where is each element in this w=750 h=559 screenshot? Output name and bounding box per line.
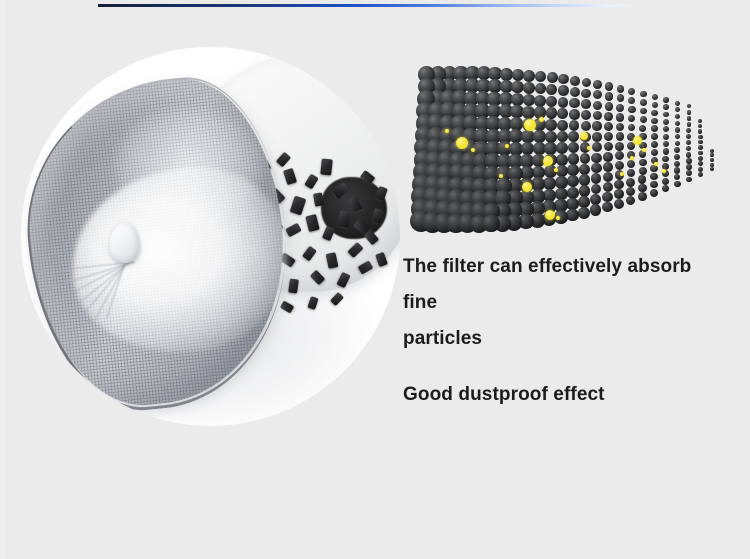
carbon-sphere [581,89,591,99]
carbon-sphere [674,147,680,153]
fine-particle [545,210,555,220]
carbon-sphere [578,207,590,219]
carbon-sphere [686,152,691,157]
gradient-divider-icon [98,4,638,7]
carbon-sphere [675,114,680,119]
carbon-sphere [616,123,624,131]
carbon-sphere [651,125,658,132]
carbon-sphere [652,102,658,108]
fine-particle [554,168,558,172]
carbon-sheet-illustration [404,52,726,232]
carbon-sphere [698,119,702,123]
carbon-sphere [568,153,580,165]
carbon-sphere [698,129,702,133]
carbon-sphere [582,78,591,87]
carbon-sphere [617,85,625,93]
carbon-sphere [591,163,602,174]
carbon-sphere [592,142,602,152]
carbon-sphere [698,151,703,156]
carbon-sphere [674,167,680,173]
carbon-sphere [544,142,557,155]
carbon-sphere [686,164,692,170]
carbon-sphere [628,106,636,114]
carbon-sphere [698,135,702,139]
carbon-sphere [675,107,680,112]
left-edge-stripe [2,0,5,559]
carbon-sphere [545,131,557,143]
carbon-sphere [604,132,613,141]
carbon-sphere [570,87,580,97]
fine-particle [642,148,646,152]
carbon-sphere [640,108,647,115]
carbon-sphere [638,192,647,201]
carbon-sphere [628,115,636,123]
carbon-sphere [663,141,669,147]
carbon-sphere [628,97,635,104]
carbon-sphere [662,178,669,185]
fine-particle [524,119,536,131]
caption-block: The filter can effectively absorb fine p… [403,249,725,413]
carbon-sphere [675,141,681,147]
carbon-sphere [556,142,568,154]
carbon-sphere [640,99,647,106]
carbon-sphere [535,83,547,95]
carbon-sphere [605,92,613,100]
carbon-sphere [567,164,579,176]
carbon-sphere [650,165,657,172]
carbon-sphere [534,95,546,107]
carbon-sphere [558,97,569,108]
carbon-sphere [627,169,636,178]
carbon-sphere [698,167,703,172]
carbon-sphere [557,131,569,143]
carbon-sphere [603,172,613,182]
carbon-sphere [604,122,613,131]
carbon-sphere [603,182,613,192]
carbon-sphere [628,124,636,132]
carbon-sphere [592,132,602,142]
carbon-sphere [628,88,635,95]
carbon-sphere [687,110,692,115]
carbon-sphere [570,76,580,86]
carbon-sphere [615,161,624,170]
carbon-sphere [592,121,602,131]
carbon-sphere [602,192,613,203]
carbon-sphere [626,196,635,205]
carbon-sphere [556,154,568,166]
carbon-sphere [652,94,658,100]
carbon-sphere [593,90,602,99]
carbon-sphere [569,120,580,131]
carbon-sphere [482,215,500,233]
carbon-sphere [581,121,591,131]
carbon-sphere [687,104,691,108]
fine-particle [580,132,588,140]
carbon-sphere [698,140,703,145]
carbon-sphere [581,110,591,120]
fine-particle [654,162,658,166]
carbon-sphere [617,94,625,102]
carbon-sphere [557,120,568,131]
caption-line-2: Good dustproof effect [403,377,725,413]
carbon-sphere [591,153,601,163]
carbon-pellet [320,158,333,175]
carbon-sphere [698,161,703,166]
carbon-sphere [710,167,714,171]
carbon-sphere [591,184,602,195]
carbon-sphere [650,181,658,189]
product-photo [21,47,400,426]
carbon-sphere [674,174,680,180]
carbon-sphere [662,185,669,192]
carbon-sphere [686,128,691,133]
carbon-sphere [591,173,602,184]
carbon-sphere [663,134,669,140]
fine-particle [445,129,449,133]
carbon-sphere [674,154,680,160]
carbon-sphere [675,127,681,133]
carbon-sphere [626,187,635,196]
carbon-sphere [602,202,613,213]
carbon-sphere [593,101,602,110]
fine-particle [630,156,634,160]
carbon-sphere [547,72,558,83]
carbon-sphere [603,162,613,172]
carbon-sphere [651,133,658,140]
caption-line-1-text: The filter can effectively absorb fine [403,256,691,313]
fine-particle [633,136,642,145]
carbon-sphere [687,116,692,121]
carbon-sphere [650,173,658,181]
carbon-sphere [663,119,669,125]
mask-valve [109,223,139,263]
carbon-sphere [580,153,591,164]
carbon-sphere [651,110,657,116]
carbon-sphere [662,156,669,163]
fine-particle [556,216,560,220]
carbon-sphere [614,199,624,209]
fine-particle [505,144,509,148]
fine-particle [539,117,544,122]
carbon-sphere [535,71,546,82]
carbon-sphere [638,175,646,183]
carbon-sphere [604,112,613,121]
carbon-sphere [675,134,681,140]
carbon-sphere [512,69,525,82]
carbon-sphere [578,196,590,208]
carbon-sphere [651,141,658,148]
carbon-sphere [640,91,647,98]
fine-particle [620,172,624,176]
carbon-sphere [698,124,702,128]
carbon-sphere [545,119,557,131]
fine-particle [662,169,666,173]
carbon-sphere [590,204,601,215]
carbon-sphere [650,189,658,197]
carbon-sphere [616,132,625,141]
carbon-sphere [663,126,669,132]
carbon-sphere [605,82,613,90]
carbon-sphere [663,97,669,103]
carbon-sphere [568,142,579,153]
carbon-sphere [522,106,535,119]
carbon-sphere [614,189,624,199]
carbon-sphere [640,116,647,123]
caption-line-1: The filter can effectively absorb fine p… [403,249,725,357]
carbon-sphere [604,142,613,151]
carbon-sphere [593,80,602,89]
carbon-sphere [579,185,591,197]
carbon-sphere [614,180,624,190]
carbon-sphere [687,122,692,127]
carbon-sphere [558,74,568,84]
carbon-sphere [523,70,535,82]
carbon-sphere [546,84,557,95]
carbon-sphere [605,102,614,111]
carbon-sphere [566,209,579,222]
carbon-sphere [674,181,681,188]
carbon-sphere [557,108,568,119]
carbon-sphere [555,176,568,189]
carbon-sphere [616,113,624,121]
carbon-sphere [663,112,669,118]
carbon-sphere [675,101,680,106]
carbon-pellet [288,278,299,293]
carbon-sphere [686,170,692,176]
carbon-sphere [698,145,703,150]
carbon-sphere [567,187,579,199]
carbon-sphere [698,172,703,177]
carbon-sphere [603,152,613,162]
fine-particle [543,156,553,166]
carbon-sphere [698,156,703,161]
carbon-sphere [615,151,624,160]
carbon-sphere [663,104,669,110]
carbon-sphere [558,85,569,96]
fine-particle [587,146,591,150]
carbon-sphere [651,118,658,125]
carbon-sphere [710,149,714,153]
carbon-sphere [546,96,557,107]
carbon-sphere [567,175,579,187]
carbon-sphere [569,109,580,120]
carbon-sphere [568,131,579,142]
carbon-sphere [581,99,591,109]
carbon-sphere [523,82,535,94]
fine-particle [499,174,503,178]
carbon-sphere [615,142,624,151]
product-photo-circle [21,47,400,426]
carbon-sphere [675,121,680,126]
carbon-sphere [639,125,646,132]
carbon-sphere [638,184,646,192]
carbon-sphere [626,178,635,187]
carbon-sphere [593,111,602,120]
carbon-sphere [651,149,658,156]
fine-particle [456,137,468,149]
carbon-sphere [627,160,636,169]
promo-banner: The filter can effectively absorb fine p… [0,0,750,559]
carbon-sphere [579,174,590,185]
fine-particle [471,148,475,152]
carbon-sphere [639,159,647,167]
carbon-sphere [710,153,714,157]
carbon-sphere [639,167,647,175]
carbon-sphere [569,98,579,108]
carbon-sphere [686,158,691,163]
carbon-sphere [616,104,624,112]
carbon-sphere [663,148,670,155]
carbon-sphere [686,146,691,151]
carbon-sphere [546,107,558,119]
caption-line-1-wrap: particles [403,328,482,349]
carbon-sphere [686,177,692,183]
fine-particle [522,182,532,192]
carbon-sphere [579,164,590,175]
carbon-sphere [710,158,714,162]
carbon-sphere [686,134,691,139]
carbon-sphere [686,140,691,145]
carbon-sphere [674,161,680,167]
